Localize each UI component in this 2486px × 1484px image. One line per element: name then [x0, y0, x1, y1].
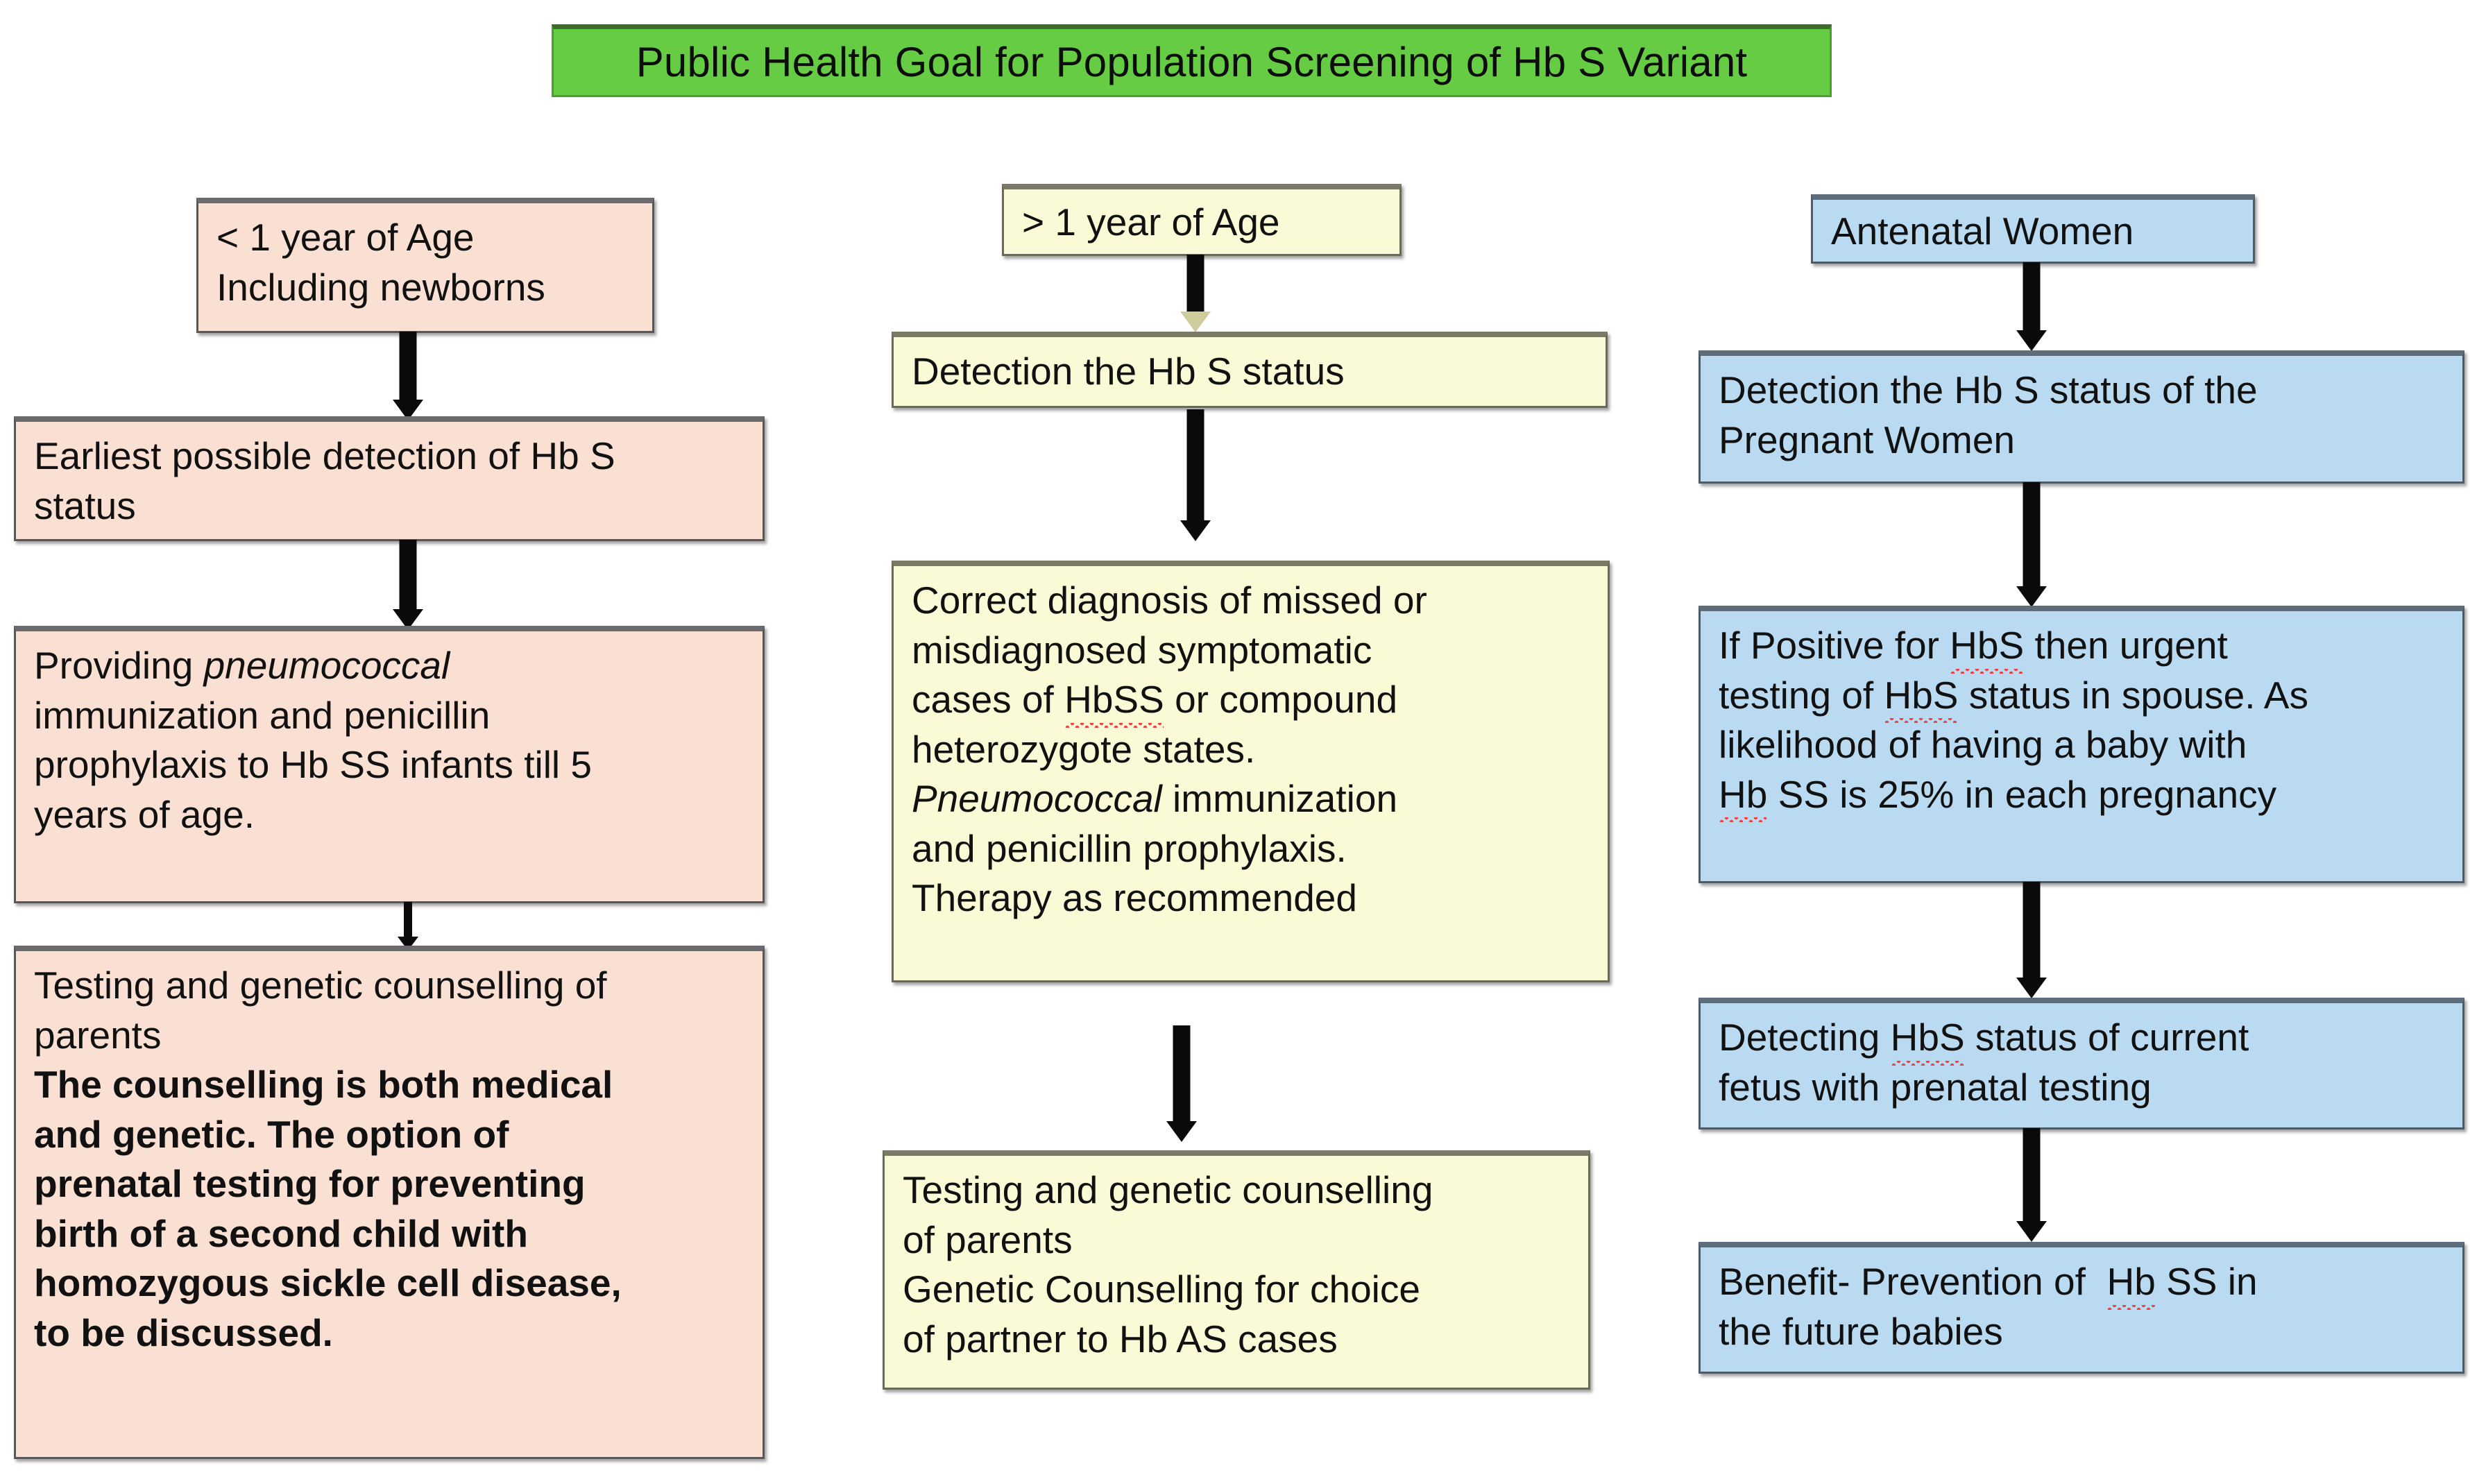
node-line: Including newborns [216, 263, 638, 313]
node-line: misdiagnosed symptomatic [912, 626, 1594, 676]
node-line: Pneumococcal immunization [912, 774, 1594, 824]
node-antenatal-benefit[interactable]: Benefit- Prevention of Hb SS inthe futur… [1699, 1242, 2464, 1374]
node-line: Benefit- Prevention of Hb SS in [1719, 1257, 2449, 1307]
node-antenatal-positive[interactable]: If Positive for HbS then urgenttesting o… [1699, 606, 2464, 883]
node-antenatal-fetus[interactable]: Detecting HbS status of currentfetus wit… [1699, 998, 2464, 1129]
spellcheck-word: Hb [2106, 1257, 2155, 1307]
node-antenatal-detection[interactable]: Detection the Hb S status of thePregnant… [1699, 350, 2464, 484]
node-line: If Positive for HbS then urgent [1719, 621, 2449, 671]
node-line: prophylaxis to Hb SS infants till 5 [34, 740, 749, 790]
arrow-children-diagnosis-to-counselling [1166, 1025, 1198, 1142]
node-line: > 1 year of Age [1022, 198, 1386, 248]
node-line: Testing and genetic counselling of [34, 961, 749, 1011]
arrow-antenatal-detection-to-positive [2016, 482, 2047, 607]
node-line: cases of HbSS or compound [912, 675, 1594, 725]
node-line: Detection the Hb S status of the [1719, 366, 2449, 416]
arrow-antenatal-start-to-detection [2016, 262, 2047, 351]
node-infants-start[interactable]: < 1 year of AgeIncluding newborns [196, 198, 654, 333]
node-line: of partner to Hb AS cases [903, 1315, 1574, 1365]
arrow-infants-prophylaxis-to-counselling [395, 902, 420, 950]
flowchart-canvas: Public Health Goal for Population Screen… [0, 0, 2486, 1484]
node-line: Therapy as recommended [912, 873, 1594, 923]
node-line: Correct diagnosis of missed or [912, 576, 1594, 626]
node-line: and genetic. The option of [34, 1110, 749, 1160]
node-line: homozygous sickle cell disease, [34, 1259, 749, 1308]
arrow-antenatal-positive-to-fetus [2016, 882, 2047, 998]
node-children-detection[interactable]: Detection the Hb S status [892, 332, 1608, 408]
node-line: the future babies [1719, 1307, 2449, 1357]
node-line: Providing pneumococcal [34, 641, 749, 691]
node-line: prenatal testing for preventing [34, 1159, 749, 1209]
node-line: heterozygote states. [912, 725, 1594, 775]
arrow-antenatal-fetus-to-benefit [2016, 1128, 2047, 1242]
spellcheck-word: HbSS [1064, 675, 1164, 725]
node-line: birth of a second child with [34, 1209, 749, 1259]
node-line: Genetic Counselling for choice [903, 1265, 1574, 1315]
spellcheck-word: HbS [1884, 671, 1958, 721]
node-line: The counselling is both medical [34, 1060, 749, 1110]
node-line: of parents [903, 1216, 1574, 1265]
node-line: status [34, 481, 749, 531]
node-infants-detection[interactable]: Earliest possible detection of Hb Sstatu… [14, 416, 765, 541]
spellcheck-word: Hb [1719, 770, 1767, 820]
arrow-infants-start-to-detection [392, 332, 424, 420]
node-antenatal-start[interactable]: Antenatal Women [1811, 194, 2255, 264]
arrow-children-start-to-detection [1180, 255, 1211, 332]
node-children-diagnosis[interactable]: Correct diagnosis of missed ormisdiagnos… [892, 561, 1610, 982]
node-line: years of age. [34, 790, 749, 840]
arrow-infants-detection-to-prophylaxis [392, 540, 424, 630]
arrow-children-detection-to-diagnosis [1180, 409, 1211, 541]
node-line: to be discussed. [34, 1308, 749, 1358]
node-line: and penicillin prophylaxis. [912, 824, 1594, 874]
node-infants-prophylaxis[interactable]: Providing pneumococcalimmunization and p… [14, 626, 765, 903]
node-line: parents [34, 1011, 749, 1061]
node-line: testing of HbS status in spouse. As [1719, 671, 2449, 721]
node-line: Earliest possible detection of Hb S [34, 432, 749, 481]
node-line: < 1 year of Age [216, 213, 638, 263]
node-children-counselling[interactable]: Testing and genetic counsellingof parent… [883, 1150, 1590, 1390]
node-line: likelihood of having a baby with [1719, 720, 2449, 770]
node-line: Hb SS is 25% in each pregnancy [1719, 770, 2449, 820]
node-line: fetus with prenatal testing [1719, 1063, 2449, 1113]
node-line: Pregnant Women [1719, 416, 2449, 466]
node-children-start[interactable]: > 1 year of Age [1002, 184, 1402, 256]
node-line: Antenatal Women [1831, 207, 2239, 257]
node-line: Testing and genetic counselling [903, 1166, 1574, 1216]
node-line: Detection the Hb S status [912, 347, 1592, 397]
node-infants-counselling[interactable]: Testing and genetic counselling ofparent… [14, 946, 765, 1459]
node-line: Detecting HbS status of current [1719, 1013, 2449, 1063]
spellcheck-word: HbS [1950, 621, 2024, 671]
node-line: immunization and penicillin [34, 691, 749, 741]
spellcheck-word: HbS [1891, 1013, 1965, 1063]
page-title: Public Health Goal for Population Screen… [552, 24, 1832, 97]
